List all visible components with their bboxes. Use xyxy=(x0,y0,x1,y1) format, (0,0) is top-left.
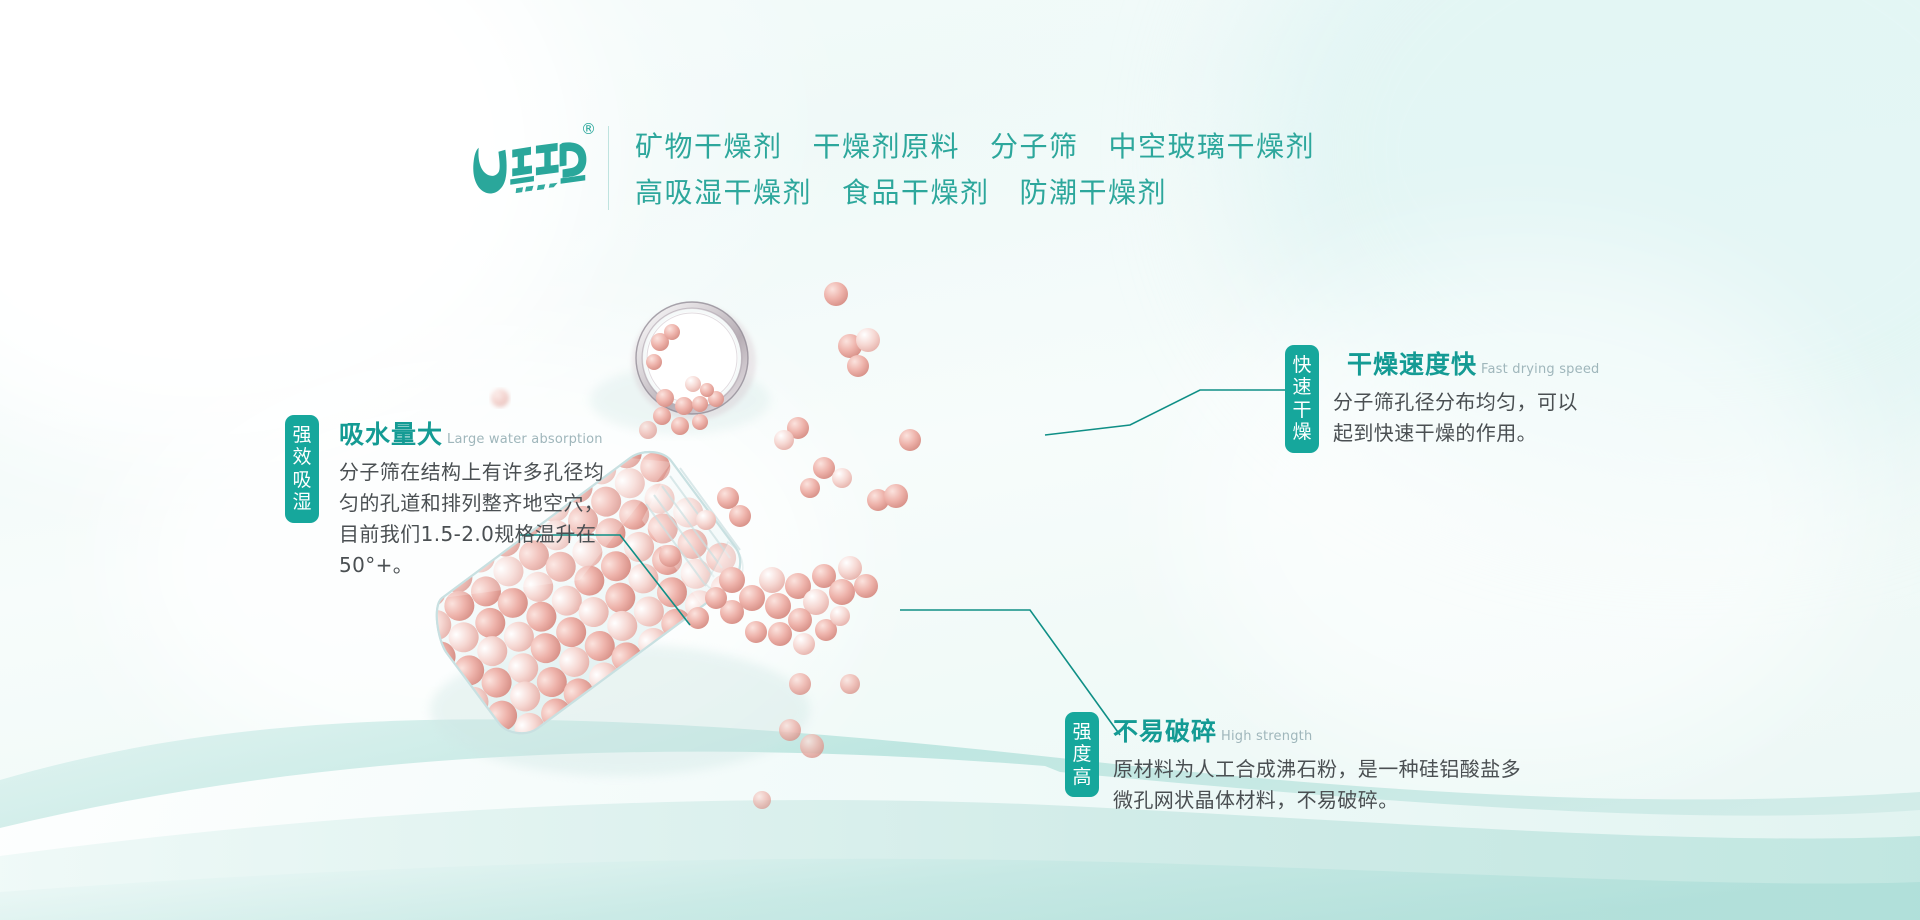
nav-keyword-list: 矿物干燥剂 干燥剂原料 分子筛 中空玻璃干燥剂 高吸湿干燥剂 食品干燥剂 防潮干… xyxy=(635,125,1315,211)
badge-char: 吸 xyxy=(289,469,315,491)
callout-high-strength: 强 度 高 不易破碎 High strength 原材料为人工合成沸石粉，是一种… xyxy=(1065,712,1533,816)
badge-char: 强 xyxy=(289,424,315,446)
nav-item-insulating-glass-desiccant[interactable]: 中空玻璃干燥剂 xyxy=(1109,125,1316,165)
badge-char: 效 xyxy=(289,446,315,468)
badge-high-strength: 强 度 高 xyxy=(1065,712,1099,797)
badge-char: 度 xyxy=(1069,743,1095,765)
nav-item-high-moisture-absorption-desiccant[interactable]: 高吸湿干燥剂 xyxy=(635,171,812,211)
nav-row-2: 高吸湿干燥剂 食品干燥剂 防潮干燥剂 xyxy=(635,171,1315,211)
badge-char: 高 xyxy=(1069,766,1095,788)
nav-item-desiccant-raw-material[interactable]: 干燥剂原料 xyxy=(813,125,961,165)
badge-char: 强 xyxy=(1069,721,1095,743)
badge-char: 干 xyxy=(1289,399,1315,421)
callout-text: 不易破碎 High strength 原材料为人工合成沸石粉，是一种硅铝酸盐多微… xyxy=(1113,712,1533,816)
callout-subtitle: Fast drying speed xyxy=(1481,362,1599,377)
site-header: ® 矿物干燥剂 干燥剂原料 分子筛 中空玻璃干燥剂 高吸湿干燥剂 食品干燥剂 防… xyxy=(470,122,1315,214)
callout-title: 不易破碎 xyxy=(1113,712,1217,748)
badge-fast-drying: 快 速 干 燥 xyxy=(1285,345,1319,453)
callout-body: 原材料为人工合成沸石粉，是一种硅铝酸盐多微孔网状晶体材料，不易破碎。 xyxy=(1113,754,1533,816)
yaou-logo-icon xyxy=(470,130,590,204)
callout-title: 吸水量大 xyxy=(339,415,443,451)
callout-title-row: 干燥速度快 Fast drying speed xyxy=(1347,345,1599,381)
callout-body: 分子筛在结构上有许多孔径均匀的孔道和排列整齐地空穴，目前我们1.5-2.0规格温… xyxy=(339,457,619,581)
badge-char: 速 xyxy=(1289,376,1315,398)
callout-text: 干燥速度快 Fast drying speed 分子筛孔径分布均匀，可以起到快速… xyxy=(1333,345,1599,449)
background-blob xyxy=(1180,250,1860,770)
nav-item-moisture-proof-desiccant[interactable]: 防潮干燥剂 xyxy=(1020,171,1168,211)
callout-body: 分子筛孔径分布均匀，可以起到快速干燥的作用。 xyxy=(1333,387,1598,449)
badge-char: 快 xyxy=(1289,354,1315,376)
callout-title-row: 吸水量大 Large water absorption xyxy=(339,415,619,451)
badge-char: 燥 xyxy=(1289,421,1315,443)
nav-item-molecular-sieve[interactable]: 分子筛 xyxy=(990,125,1079,165)
callout-title-row: 不易破碎 High strength xyxy=(1113,712,1533,748)
callout-fast-drying-speed: 快 速 干 燥 干燥速度快 Fast drying speed 分子筛孔径分布均… xyxy=(1285,345,1599,453)
callout-subtitle: High strength xyxy=(1221,729,1312,744)
banner-stage: ® 矿物干燥剂 干燥剂原料 分子筛 中空玻璃干燥剂 高吸湿干燥剂 食品干燥剂 防… xyxy=(0,0,1920,920)
brand-logo[interactable]: ® xyxy=(470,122,590,214)
callout-text: 吸水量大 Large water absorption 分子筛在结构上有许多孔径… xyxy=(333,415,619,581)
badge-char: 湿 xyxy=(289,491,315,513)
callout-title: 干燥速度快 xyxy=(1347,345,1477,381)
callout-large-water-absorption: 强 效 吸 湿 吸水量大 Large water absorption 分子筛在… xyxy=(285,415,619,581)
registered-trademark-icon: ® xyxy=(581,122,596,137)
nav-item-food-desiccant[interactable]: 食品干燥剂 xyxy=(842,171,990,211)
nav-row-1: 矿物干燥剂 干燥剂原料 分子筛 中空玻璃干燥剂 xyxy=(635,125,1315,165)
header-divider xyxy=(608,126,609,210)
nav-item-mineral-desiccant[interactable]: 矿物干燥剂 xyxy=(635,125,783,165)
badge-strong-moisture-absorption: 强 效 吸 湿 xyxy=(285,415,319,523)
callout-subtitle: Large water absorption xyxy=(447,432,603,447)
